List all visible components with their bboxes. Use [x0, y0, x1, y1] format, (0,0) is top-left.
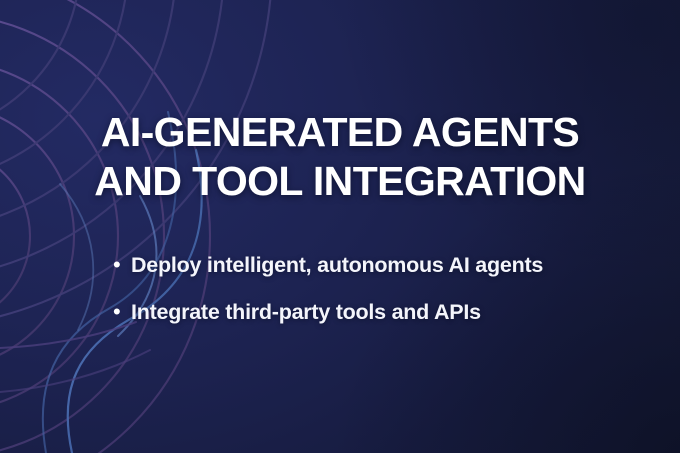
- page-title: AI-GENERATED AGENTS AND TOOL INTEGRATION: [0, 108, 680, 206]
- list-item: • Integrate third-party tools and APIs: [113, 299, 543, 325]
- list-item: • Deploy intelligent, autonomous AI agen…: [113, 252, 543, 278]
- bullet-list: • Deploy intelligent, autonomous AI agen…: [113, 252, 543, 346]
- slide-content: AI-GENERATED AGENTS AND TOOL INTEGRATION…: [0, 0, 680, 453]
- title-line-1: AI-GENERATED AGENTS: [0, 108, 680, 157]
- bullet-text: Deploy intelligent, autonomous AI agents: [131, 252, 543, 278]
- bullet-point-icon: •: [113, 299, 131, 325]
- slide-canvas: AI-GENERATED AGENTS AND TOOL INTEGRATION…: [0, 0, 680, 453]
- bullet-point-icon: •: [113, 252, 131, 278]
- bullet-text: Integrate third-party tools and APIs: [131, 299, 481, 325]
- title-line-2: AND TOOL INTEGRATION: [0, 157, 680, 206]
